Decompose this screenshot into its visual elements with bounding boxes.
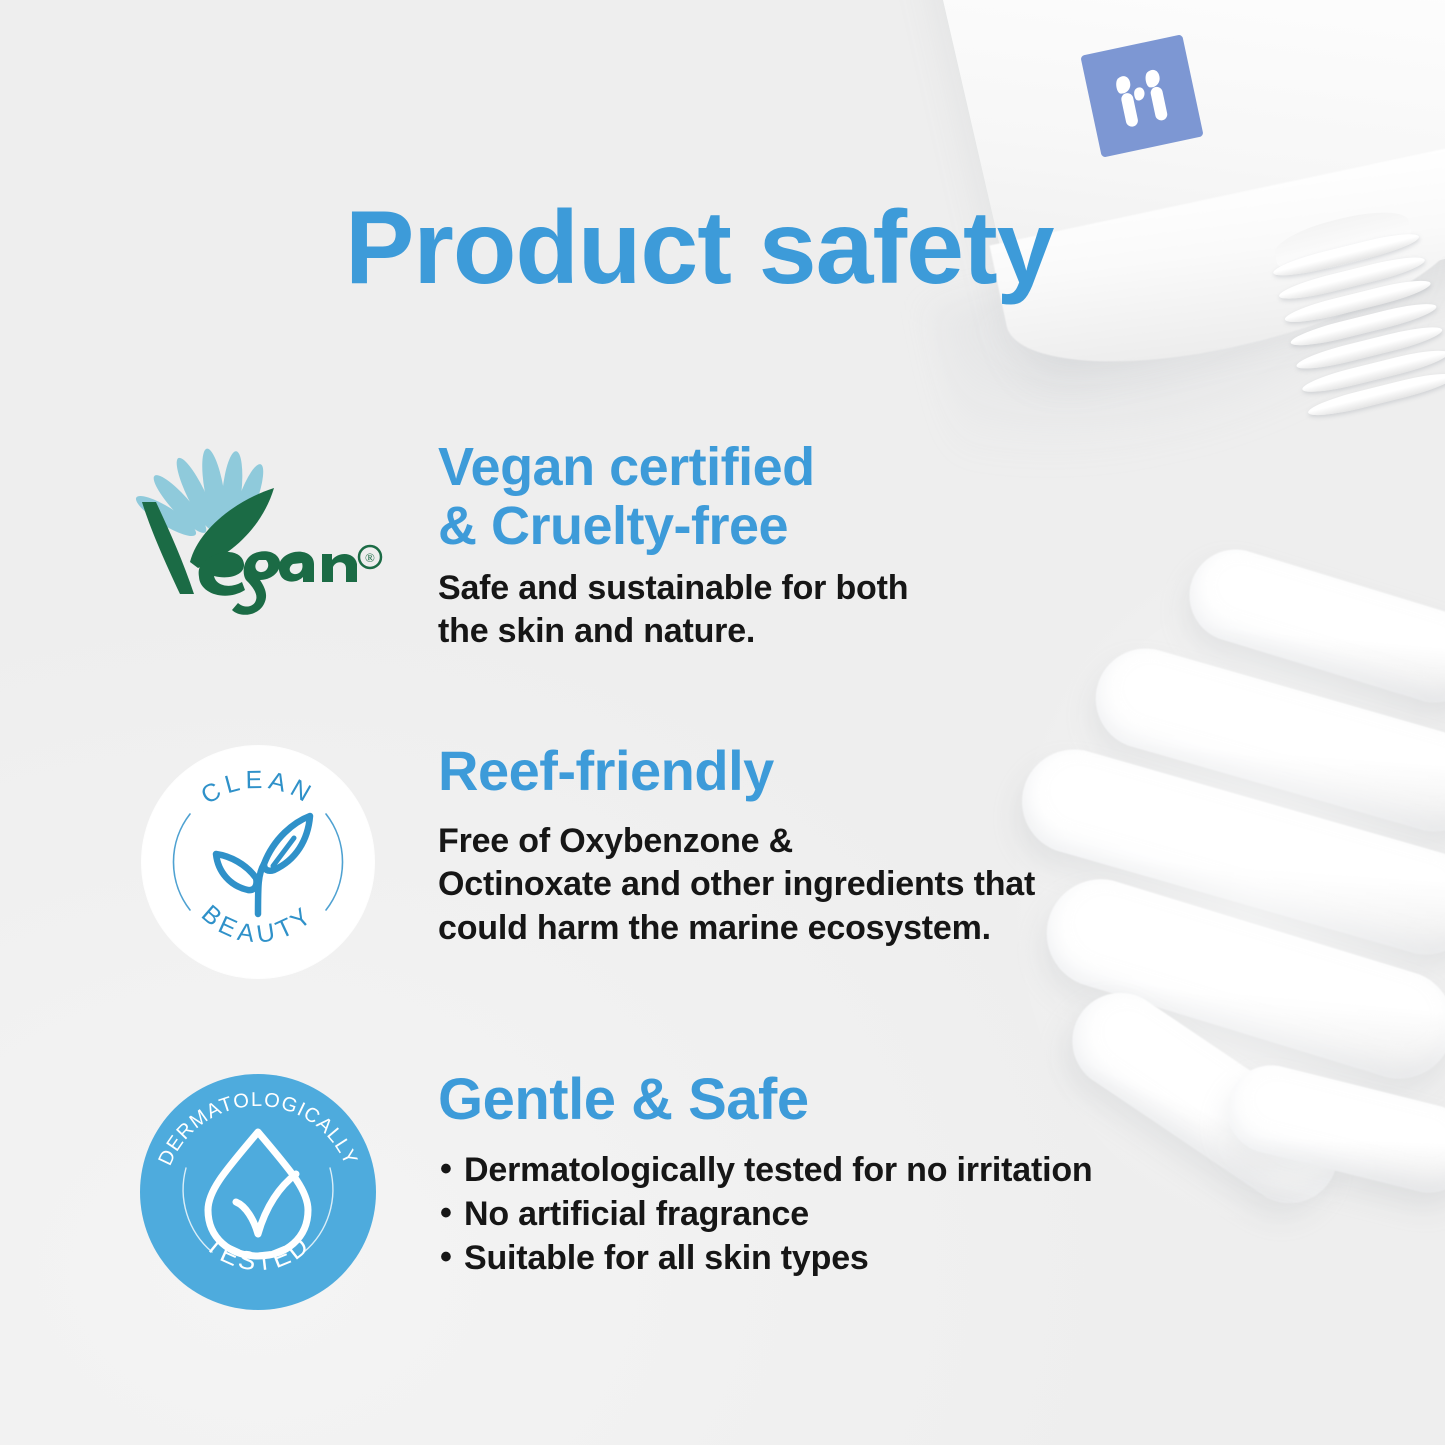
feature-heading-line: & Cruelty-free [438,496,788,556]
badge-slot: DERMATOLOGICALLY TESTED [78,1068,438,1310]
feature-row: ® Vegan certified & Cruelty-free Safe an… [78,438,1138,654]
cap-thread [1277,252,1427,305]
cap-thread [1306,368,1445,421]
feature-body: Safe and sustainable for both the skin a… [438,567,1138,654]
product-tube-shoulder [990,148,1445,392]
feature-body-line: Free of Oxybenzone & [438,822,793,860]
clean-beauty-badge-icon: CLEAN BEAUTY [142,746,374,978]
feature-body-line: Safe and sustainable for both [438,569,908,607]
list-item: Dermatologically tested for no irritatio… [438,1148,1138,1192]
feature-body-line: the skin and nature. [438,612,755,650]
product-tube-cap [1270,223,1445,439]
list-item: Suitable for all skin types [438,1236,1138,1280]
cream-swatch [1218,1056,1445,1202]
badge-slot: ® [78,438,438,619]
vegan-certified-logo-icon: ® [128,444,388,619]
feature-heading-line: Vegan certified [438,437,815,497]
feature-row: CLEAN BEAUTY [78,740,1138,978]
cap-neck [1270,203,1415,281]
registered-mark: ® [365,550,375,565]
clean-beauty-top-text: CLEAN [196,766,319,810]
cap-thread [1283,275,1433,328]
svg-text:CLEAN: CLEAN [196,766,319,810]
cap-thread [1289,298,1439,351]
cream-swatch [1084,637,1445,843]
cap-thread [1295,322,1445,375]
dermatologically-tested-badge-icon: DERMATOLOGICALLY TESTED [140,1074,376,1310]
badge-slot: CLEAN BEAUTY [78,740,438,978]
feature-body: Free of Oxybenzone & Octinoxate and othe… [438,820,1138,951]
feature-text-block: Vegan certified & Cruelty-free Safe and … [438,438,1138,654]
feature-heading: Reef-friendly [438,740,1138,802]
feature-body-line: could harm the marine ecosystem. [438,909,991,947]
brand-sprout-logo-icon [1080,34,1203,157]
list-item: No artificial fragrance [438,1192,1138,1236]
feature-heading: Vegan certified & Cruelty-free [438,438,1138,557]
page-title: Product safety [345,196,1053,300]
feature-text-block: Gentle & Safe Dermatologically tested fo… [438,1068,1138,1280]
cap-thread [1300,345,1445,398]
feature-body-line: Octinoxate and other ingredients that [438,865,1035,903]
product-safety-infographic: Product safety [0,0,1445,1445]
feature-heading: Gentle & Safe [438,1068,1138,1132]
feature-text-block: Reef-friendly Free of Oxybenzone & Octin… [438,740,1138,950]
feature-row: DERMATOLOGICALLY TESTED [78,1068,1138,1310]
feature-bullet-list: Dermatologically tested for no irritatio… [438,1148,1138,1281]
cream-swatch [1178,538,1445,714]
cap-thread [1271,228,1421,281]
